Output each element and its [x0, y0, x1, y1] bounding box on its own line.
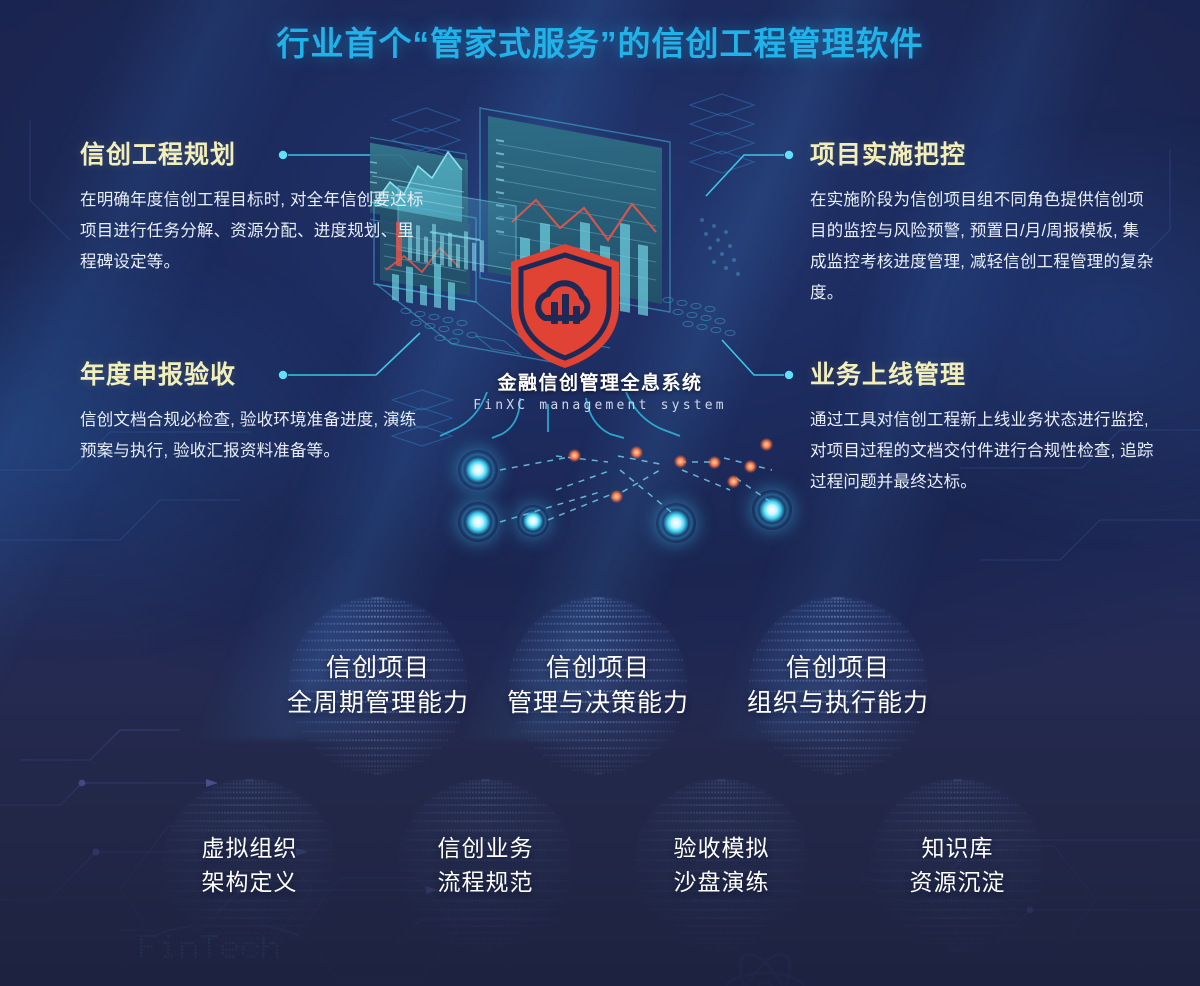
sphere-label-line2: 管理与决策能力 [507, 685, 689, 721]
infographic-canvas: 行业首个“管家式服务”的信创工程管理软件 [0, 0, 1200, 986]
sphere-label: 知识库 资源沉淀 [910, 832, 1006, 900]
feature-heading-annual-acceptance: 年度申报验收 [80, 355, 430, 391]
sphere-label-line1: 信创项目 [747, 651, 929, 685]
feature-block-business-launch: 业务上线管理 通过工具对信创工程新上线业务状态进行监控, 对项目过程的文档交付件… [810, 355, 1155, 498]
shield-logo-icon [503, 240, 627, 372]
feature-heading-implementation: 项目实施把控 [810, 135, 1155, 171]
sphere-label: 信创项目 全周期管理能力 [287, 651, 469, 721]
signal-dot-4 [708, 456, 721, 469]
sphere-label-line1: 信创项目 [287, 651, 469, 685]
sphere-label-line1: 信创业务 [438, 832, 534, 865]
feature-heading-planning: 信创工程规划 [80, 135, 430, 171]
dot-cluster-decor [700, 218, 740, 276]
sphere-label-line2: 全周期管理能力 [287, 685, 469, 721]
sphere-label-line1: 信创项目 [507, 651, 689, 685]
sphere-label-line1: 验收模拟 [674, 832, 770, 865]
signal-dot-5 [744, 460, 757, 473]
sphere-label-line2: 组织与执行能力 [747, 685, 929, 721]
sphere-label-line2: 流程规范 [438, 865, 534, 900]
feature-body-planning: 在明确年度信创工程目标时, 对全年信创要达标项目进行任务分解、资源分配、进度规划… [80, 185, 430, 278]
keyboard-right [663, 297, 735, 335]
system-name-cn: 金融信创管理全息系统 [400, 368, 800, 395]
sphere-label-line2: 架构定义 [202, 865, 298, 900]
sphere-label-line2: 沙盘演练 [674, 865, 770, 900]
network-node-1 [458, 450, 498, 490]
sphere-label: 信创业务 流程规范 [438, 832, 534, 900]
signal-dot-2 [630, 446, 643, 459]
feature-body-business-launch: 通过工具对信创工程新上线业务状态进行监控, 对项目过程的文档交付件进行合规性检查… [810, 405, 1155, 498]
system-name-caption: 金融信创管理全息系统 FinXC management system [400, 368, 800, 413]
network-node-3 [517, 505, 549, 537]
feature-body-annual-acceptance: 信创文档合规必检查, 验收环境准备进度, 演练预案与执行, 验收汇报资料准备等。 [80, 405, 430, 467]
signal-dot-6 [760, 438, 773, 451]
sphere-label: 虚拟组织 架构定义 [202, 832, 298, 900]
feature-block-annual-acceptance: 年度申报验收 信创文档合规必检查, 验收环境准备进度, 演练预案与执行, 验收汇… [80, 355, 430, 467]
bottom-vignette [0, 686, 1200, 986]
sphere-label: 信创项目 管理与决策能力 [507, 651, 689, 721]
signal-dot-3 [674, 455, 687, 468]
feature-heading-business-launch: 业务上线管理 [810, 355, 1155, 391]
signal-dot-1 [568, 449, 581, 462]
sphere-label: 验收模拟 沙盘演练 [674, 832, 770, 900]
feature-block-planning: 信创工程规划 在明确年度信创工程目标时, 对全年信创要达标项目进行任务分解、资源… [80, 135, 430, 278]
sphere-label-line1: 虚拟组织 [202, 832, 298, 865]
feature-body-implementation: 在实施阶段为信创项目组不同角色提供信创项目的监控与风险预警, 预置日/月/周报模… [810, 185, 1155, 309]
signal-dot-7 [610, 490, 623, 503]
network-node-2 [458, 502, 498, 542]
sphere-label-line2: 资源沉淀 [910, 865, 1006, 900]
sphere-label-line1: 知识库 [910, 832, 1006, 865]
signal-dot-8 [727, 475, 740, 488]
network-node-5 [752, 490, 792, 530]
system-name-en: FinXC management system [400, 398, 800, 413]
feature-block-implementation: 项目实施把控 在实施阶段为信创项目组不同角色提供信创项目的监控与风险预警, 预置… [810, 135, 1155, 309]
network-node-4 [656, 503, 696, 543]
sphere-label: 信创项目 组织与执行能力 [747, 651, 929, 721]
page-title: 行业首个“管家式服务”的信创工程管理软件 [0, 17, 1200, 65]
